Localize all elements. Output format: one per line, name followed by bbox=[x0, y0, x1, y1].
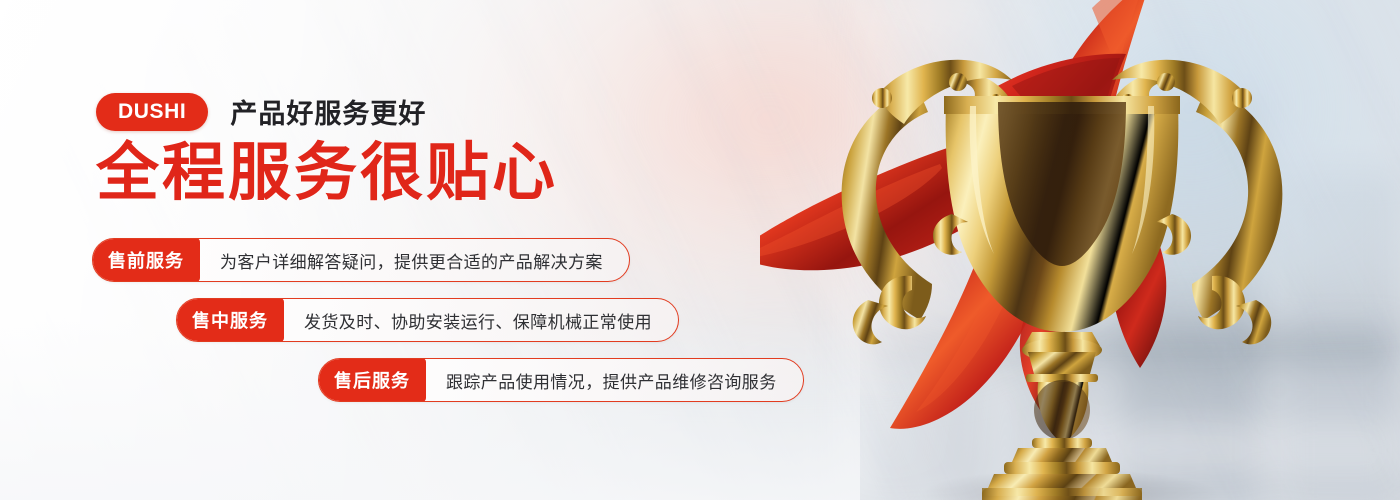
service-description: 发货及时、协助安装运行、保障机械正常使用 bbox=[284, 299, 678, 341]
eyebrow-row: DUSHI 产品好服务更好 bbox=[96, 92, 426, 131]
background-cool-haze bbox=[880, 0, 1400, 300]
service-row-aftersale[interactable]: 售后服务 跟踪产品使用情况，提供产品维修咨询服务 bbox=[318, 358, 804, 402]
service-list: 售前服务 为客户详细解答疑问，提供更合适的产品解决方案 售中服务 发货及时、协助… bbox=[0, 238, 900, 418]
service-tag: 售中服务 bbox=[176, 298, 284, 342]
service-description: 跟踪产品使用情况，提供产品维修咨询服务 bbox=[426, 359, 803, 401]
promo-banner: DUSHI 产品好服务更好 全程服务很贴心 售前服务 为客户详细解答疑问，提供更… bbox=[0, 0, 1400, 500]
eyebrow-tagline: 产品好服务更好 bbox=[230, 92, 426, 131]
service-description: 为客户详细解答疑问，提供更合适的产品解决方案 bbox=[200, 239, 629, 281]
headline: 全程服务很贴心 bbox=[96, 142, 558, 205]
service-row-presale[interactable]: 售前服务 为客户详细解答疑问，提供更合适的产品解决方案 bbox=[92, 238, 630, 282]
brand-badge: DUSHI bbox=[96, 93, 208, 131]
banner-content: DUSHI 产品好服务更好 全程服务很贴心 售前服务 为客户详细解答疑问，提供更… bbox=[0, 0, 900, 500]
service-row-midsale[interactable]: 售中服务 发货及时、协助安装运行、保障机械正常使用 bbox=[176, 298, 679, 342]
service-tag: 售前服务 bbox=[92, 238, 200, 282]
service-tag: 售后服务 bbox=[318, 358, 426, 402]
